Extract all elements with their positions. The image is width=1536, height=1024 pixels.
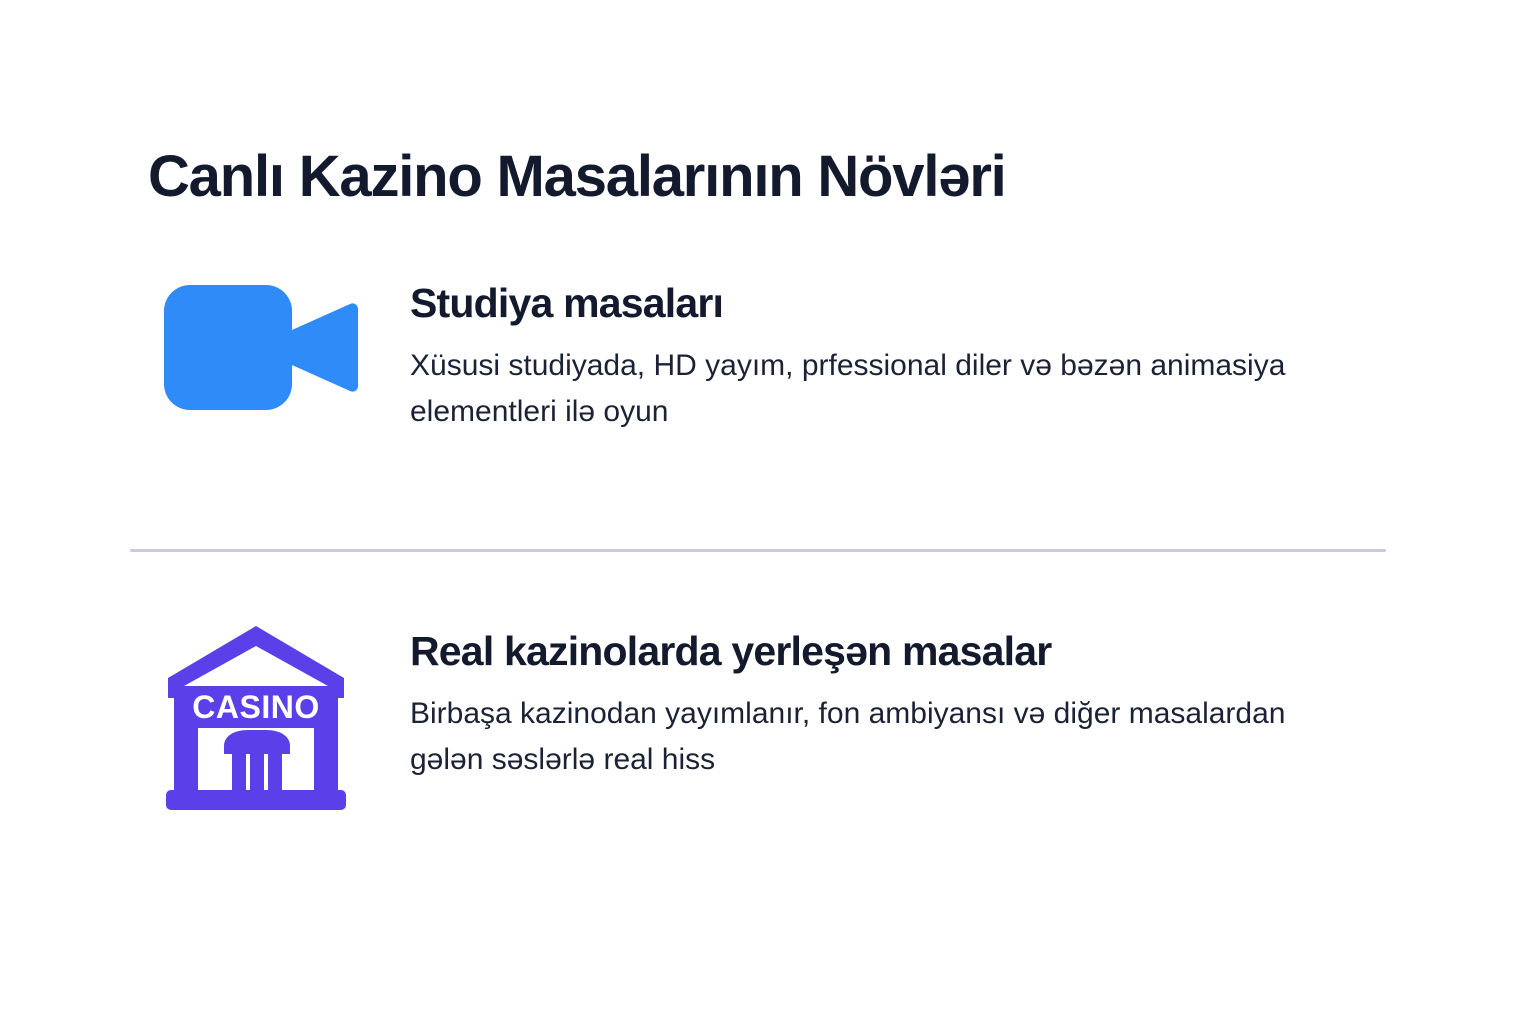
section-divider xyxy=(130,549,1386,552)
infographic-page: Canlı Kazino Masalarının Növləri Studiya… xyxy=(0,0,1536,1024)
video-camera-icon xyxy=(160,268,360,428)
section-body-text: Birbaşa kazinodan yayımlanır, fon ambiya… xyxy=(410,675,1290,782)
svg-text:CASINO: CASINO xyxy=(192,689,319,725)
section-text-column: Real kazinolarda yerleşən masalar Birbaş… xyxy=(410,618,1470,782)
page-title: Canlı Kazino Masalarının Növləri xyxy=(148,143,1006,210)
section-heading: Studiya masaları xyxy=(410,268,1470,327)
casino-building-icon: CASINO xyxy=(160,618,360,818)
section-body-text: Xüsusi studiyada, HD yayım, prfessional … xyxy=(410,327,1310,434)
section-text-column: Studiya masaları Xüsusi studiyada, HD ya… xyxy=(410,268,1470,434)
section-heading: Real kazinolarda yerleşən masalar xyxy=(410,618,1470,675)
